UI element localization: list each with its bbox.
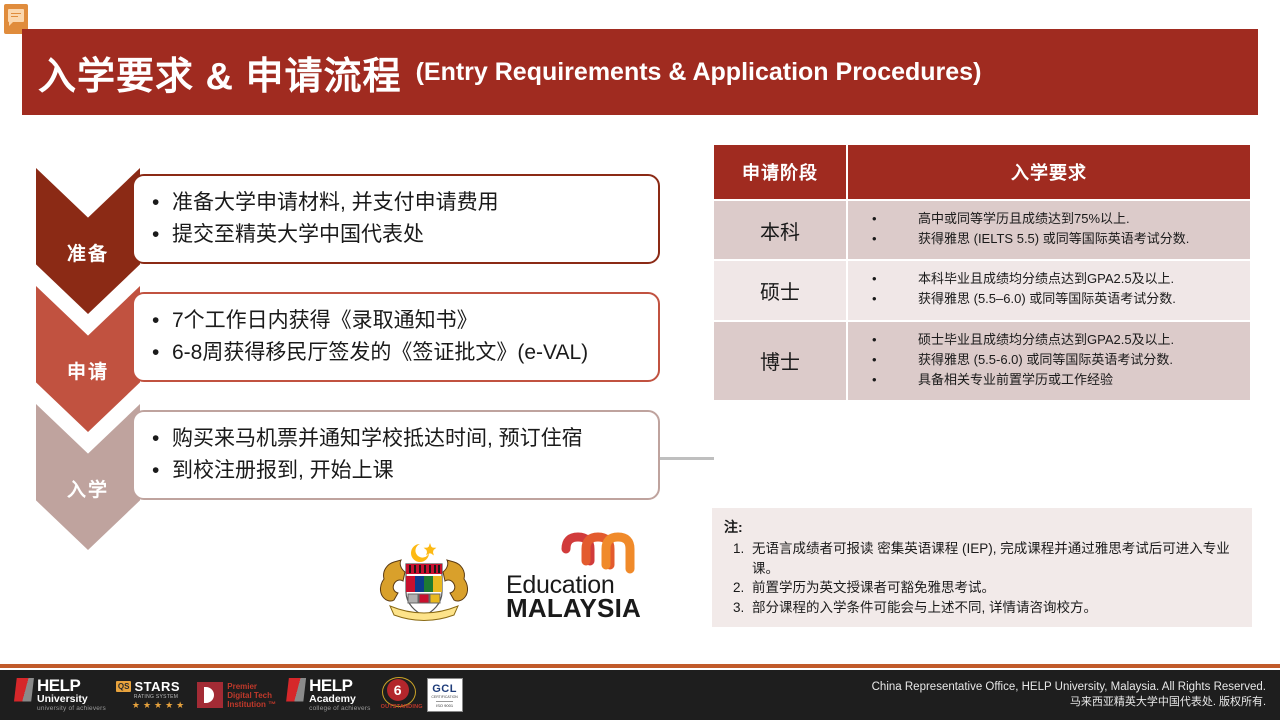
requirements-cell: 硕士毕业且成绩均分绩点达到GPA2.5及以上. 获得雅思 (5.5-6.0) 或… [847, 321, 1251, 401]
requirement-item: 获得雅思 (IELTS 5.5) 或同等国际英语考试分数. [858, 229, 1244, 249]
footer-logo-group: HELP University university of achievers … [14, 677, 463, 713]
gcl-certification-logo: GCL CERTIFICATION ISO 9001 [427, 678, 463, 712]
pdti-line1: Premier [227, 682, 276, 691]
stage-cell: 硕士 [713, 260, 847, 320]
requirement-item: 本科毕业且成绩均分绩点达到GPA2.5及以上. [858, 269, 1244, 289]
column-header-stage: 申请阶段 [713, 144, 847, 200]
help-academy-tagline: college of achievers [309, 705, 370, 713]
outstanding-word: OUTSTANDING [381, 704, 423, 710]
qs-stars-logo: QS STARS RATING SYSTEM ★★★★★ [116, 679, 187, 711]
gcl-word: GCL [432, 683, 457, 695]
requirements-cell: 本科毕业且成绩均分绩点达到GPA2.5及以上. 获得雅思 (5.5–6.0) 或… [847, 260, 1251, 320]
table-row: 本科 高中或同等学历且成绩达到75%以上. 获得雅思 (IELTS 5.5) 或… [713, 200, 1251, 260]
requirement-item: 获得雅思 (5.5-6.0) 或同等国际英语考试分数. [858, 350, 1244, 370]
requirement-item: 硕士毕业且成绩均分绩点达到GPA2.5及以上. [858, 330, 1244, 350]
callout-step-1: 准备大学申请材料, 并支付申请费用 提交至精英大学中国代表处 [132, 174, 660, 264]
application-flow: 准备 准备大学申请材料, 并支付申请费用 提交至精英大学中国代表处 申请 7个工… [36, 168, 676, 548]
help-university-logo: HELP University university of achievers [14, 678, 106, 713]
callout-bullet: 到校注册报到, 开始上课 [150, 455, 642, 487]
requirements-cell: 高中或同等学历且成绩达到75%以上. 获得雅思 (IELTS 5.5) 或同等国… [847, 200, 1251, 260]
qs-badge: QS [116, 681, 132, 692]
help-academy-sub: Academy [309, 693, 370, 705]
notes-block: 注: 无语言成绩者可报读 密集英语课程 (IEP), 完成课程并通过雅思考试后可… [712, 508, 1252, 627]
table-row: 博士 硕士毕业且成绩均分绩点达到GPA2.5及以上. 获得雅思 (5.5-6.0… [713, 321, 1251, 401]
help-academy-mark-icon [286, 678, 306, 702]
note-item: 前置学历为英文授课者可豁免雅思考试。 [748, 578, 1240, 598]
page-title-en: (Entry Requirements & Application Proced… [416, 58, 982, 87]
column-header-requirements: 入学要求 [847, 144, 1251, 200]
requirements-table: 申请阶段 入学要求 本科 高中或同等学历且成绩达到75%以上. 获得雅思 (IE… [712, 143, 1252, 402]
requirement-item: 具备相关专业前置学历或工作经验 [858, 370, 1244, 390]
table-header-row: 申请阶段 入学要求 [713, 144, 1251, 200]
chevron-label-1: 准备 [67, 239, 109, 266]
stage-cell: 本科 [713, 200, 847, 260]
premier-digital-tech-logo: Premier Digital Tech Institution ™ [197, 682, 276, 709]
table-row: 硕士 本科毕业且成绩均分绩点达到GPA2.5及以上. 获得雅思 (5.5–6.0… [713, 260, 1251, 320]
malaysia-word: MALAYSIA [506, 593, 641, 624]
slide-footer: HELP University university of achievers … [0, 670, 1280, 720]
page-title-cn: 入学要求 & 申请流程 [38, 45, 402, 100]
callout-step-3: 购买来马机票并通知学校抵达时间, 预订住宿 到校注册报到, 开始上课 [132, 410, 660, 500]
copyright-en: China Representative Office, HELP Univer… [872, 680, 1266, 695]
stars-word: STARS [134, 679, 180, 694]
six-digit: 6 [387, 679, 409, 701]
callout-bullet: 6-8周获得移民厅签发的《签证批文》(e-VAL) [150, 337, 642, 369]
callout-bullet: 7个工作日内获得《录取通知书》 [150, 305, 642, 337]
callout-bullet: 准备大学申请材料, 并支付申请费用 [150, 187, 642, 219]
pdti-mark-icon [197, 682, 223, 708]
help-academy-name: HELP [309, 678, 370, 693]
note-item: 无语言成绩者可报读 密集英语课程 (IEP), 完成课程并通过雅思考试后可进入专… [748, 539, 1240, 578]
gcl-iso: ISO 9001 [436, 701, 453, 708]
requirements-table-wrap: 申请阶段 入学要求 本科 高中或同等学历且成绩达到75%以上. 获得雅思 (IE… [712, 143, 1252, 402]
stars-rating-icon: ★★★★★ [132, 700, 187, 711]
callout-bullet: 提交至精英大学中国代表处 [150, 219, 642, 251]
pdti-line3: Institution ™ [227, 700, 276, 709]
footer-copyright: China Representative Office, HELP Univer… [872, 680, 1266, 710]
chevron-label-3: 入学 [67, 475, 109, 502]
note-item: 部分课程的入学条件可能会与上述不同, 详情请咨询校方。 [748, 598, 1240, 618]
notes-title: 注: [724, 517, 1240, 537]
education-malaysia-logo: Education MALAYSIA [506, 535, 646, 621]
help-mark-icon [14, 678, 34, 702]
education-malaysia-mark-icon [558, 531, 678, 575]
footer-divider [0, 664, 1280, 668]
help-university-tagline: university of achievers [37, 705, 106, 713]
callout-bullet: 购买来马机票并通知学校抵达时间, 预订住宿 [150, 423, 642, 455]
copyright-cn: 马来西亚精英大学中国代表处. 版权所有. [872, 695, 1266, 710]
chevron-label-2: 申请 [67, 357, 109, 384]
callout-step-2: 7个工作日内获得《录取通知书》 6-8周获得移民厅签发的《签证批文》(e-VAL… [132, 292, 660, 382]
six-star-outstanding-logo: 6 OUTSTANDING [381, 677, 417, 713]
malaysia-coat-of-arms-icon [368, 530, 480, 626]
requirement-item: 高中或同等学历且成绩达到75%以上. [858, 209, 1244, 229]
help-academy-logo: HELP Academy college of achievers [286, 678, 370, 713]
slide-title-bar: 入学要求 & 申请流程 (Entry Requirements & Applic… [22, 29, 1258, 115]
flow-to-table-connector [660, 457, 714, 460]
requirement-item: 获得雅思 (5.5–6.0) 或同等国际英语考试分数. [858, 289, 1244, 309]
pdti-line2: Digital Tech [227, 691, 276, 700]
logo-group: Education MALAYSIA [368, 528, 658, 628]
gcl-subtitle: CERTIFICATION [431, 695, 458, 699]
help-university-name: HELP [37, 678, 106, 693]
slide-canvas: 入学要求 & 申请流程 (Entry Requirements & Applic… [0, 0, 1280, 720]
chevron-step-1: 准备 [36, 168, 140, 314]
help-university-sub: University [37, 693, 106, 705]
comment-tail [9, 21, 14, 26]
stage-cell: 博士 [713, 321, 847, 401]
